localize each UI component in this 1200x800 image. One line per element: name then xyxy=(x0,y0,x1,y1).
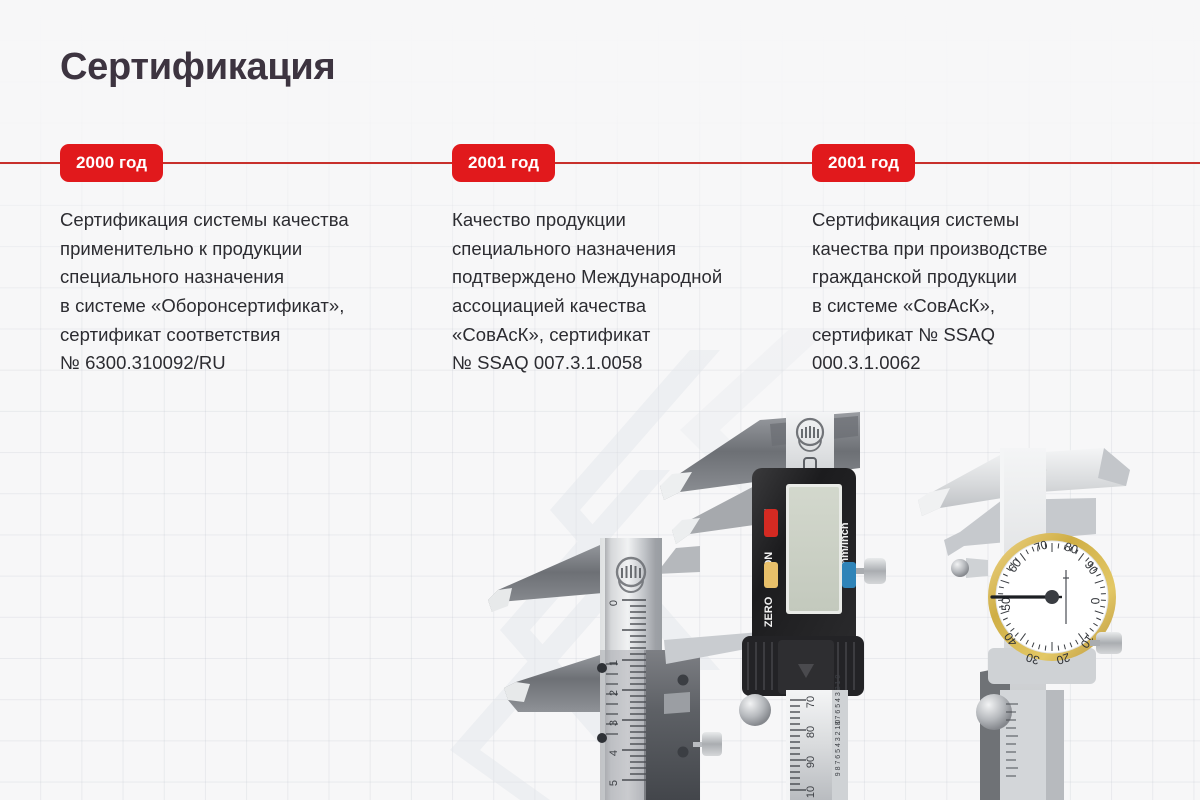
timeline-column-3: Сертификация системы качества при произв… xyxy=(812,206,1164,378)
svg-text:1: 1 xyxy=(608,660,620,666)
svg-text:50: 50 xyxy=(999,597,1013,611)
svg-text:80: 80 xyxy=(1063,539,1080,557)
svg-text:ZERO: ZERO xyxy=(763,596,775,627)
svg-text:10: 10 xyxy=(1077,632,1096,651)
svg-text:3: 3 xyxy=(608,720,620,726)
svg-text:0: 0 xyxy=(608,600,620,606)
slide-root: 0 1 2 3 4 5 xyxy=(0,0,1200,800)
svg-text:ON: ON xyxy=(763,552,775,569)
svg-text:90: 90 xyxy=(805,756,817,768)
svg-text:4: 4 xyxy=(608,750,620,756)
svg-text:5: 5 xyxy=(608,780,620,786)
svg-text:70: 70 xyxy=(805,696,817,708)
svg-text:0: 0 xyxy=(1088,598,1102,605)
dial-bezel xyxy=(988,533,1116,661)
timeline-text-2: Качество продукции специального назначен… xyxy=(452,206,804,378)
timeline-badge-2001-a[interactable]: 2001 год xyxy=(452,144,555,182)
svg-text:40: 40 xyxy=(1001,630,1020,649)
svg-text:30: 30 xyxy=(1024,650,1041,668)
timeline-badge-2000[interactable]: 2000 год xyxy=(60,144,163,182)
svg-text:2: 2 xyxy=(608,690,620,696)
svg-text:mm/inch: mm/inch xyxy=(839,522,851,568)
timeline-rule xyxy=(0,162,1200,164)
vernier-caliper: 0 1 2 3 4 5 xyxy=(488,538,762,800)
svg-text:90: 90 xyxy=(1082,558,1101,577)
svg-text:80: 80 xyxy=(805,726,817,738)
calipers-photograph: 0 1 2 3 4 5 xyxy=(0,0,1200,800)
svg-text:60: 60 xyxy=(1005,556,1024,575)
background-grid xyxy=(0,0,1200,800)
svg-text:20: 20 xyxy=(1054,650,1071,668)
chevron-watermark xyxy=(250,330,1010,800)
timeline-column-2: Качество продукции специального назначен… xyxy=(452,206,804,378)
digital-caliper: OFF ON ZERO mm/inch xyxy=(660,412,886,800)
svg-text:8 7 6 5 4 3 2 1 0: 8 7 6 5 4 3 2 1 0 xyxy=(835,675,842,726)
timeline-text-1: Сертификация системы качества применител… xyxy=(60,206,432,378)
timeline-text-3: Сертификация системы качества при произв… xyxy=(812,206,1164,378)
page-title: Сертификация xyxy=(60,46,335,89)
svg-text:9 8 7 6 5 4 3 2 1 0: 9 8 7 6 5 4 3 2 1 0 xyxy=(835,720,842,777)
svg-text:10: 10 xyxy=(805,786,817,798)
lcd-display xyxy=(789,487,839,611)
grid-fade-overlay xyxy=(0,0,1200,800)
timeline-badge-2001-b[interactable]: 2001 год xyxy=(812,144,915,182)
timeline-column-1: Сертификация системы качества применител… xyxy=(60,206,432,378)
svg-text:70: 70 xyxy=(1032,537,1049,555)
dial-caliper: 0 10 20 30 40 50 60 70 80 90 xyxy=(918,448,1130,800)
svg-text:OFF: OFF xyxy=(763,509,775,531)
